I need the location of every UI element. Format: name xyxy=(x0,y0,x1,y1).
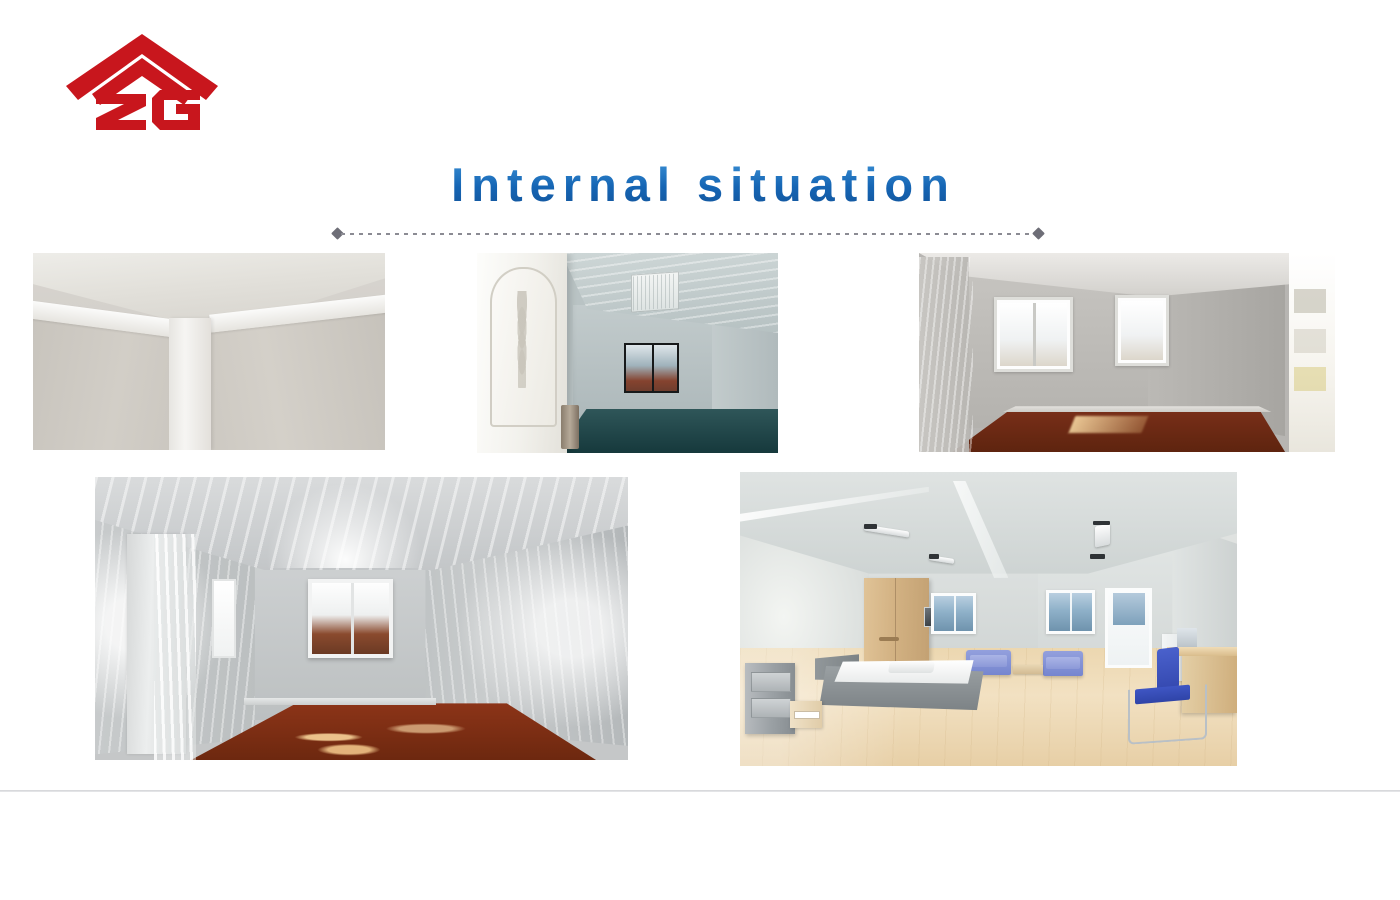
title-block: Internal situation xyxy=(0,160,1400,209)
gallery-image-5[interactable]: 3D rendered dormitory with wardrobe, bed… xyxy=(740,472,1237,766)
photo-5-scene xyxy=(740,472,1237,766)
page-title: Internal situation xyxy=(444,160,956,209)
divider-cap-right-icon xyxy=(1032,227,1045,240)
slide-root: Internal situation Container interior ce… xyxy=(0,0,1400,900)
photo-4-scene xyxy=(95,477,628,760)
photo-3-scene xyxy=(919,253,1335,452)
photo-1-scene xyxy=(33,253,385,450)
divider-dots xyxy=(341,233,1035,235)
title-divider xyxy=(333,228,1043,240)
bottom-divider xyxy=(0,790,1400,792)
gallery-image-2[interactable]: Room seen through open embossed white do… xyxy=(477,253,778,453)
zg-logo xyxy=(62,28,222,133)
gallery-image-1[interactable]: Container interior ceiling corner with w… xyxy=(33,253,385,450)
gallery-image-4[interactable]: Wide empty room with protective film on … xyxy=(95,477,628,760)
photo-2-scene xyxy=(477,253,778,453)
gallery-image-3[interactable]: Grey panelled room with two white window… xyxy=(919,253,1335,452)
